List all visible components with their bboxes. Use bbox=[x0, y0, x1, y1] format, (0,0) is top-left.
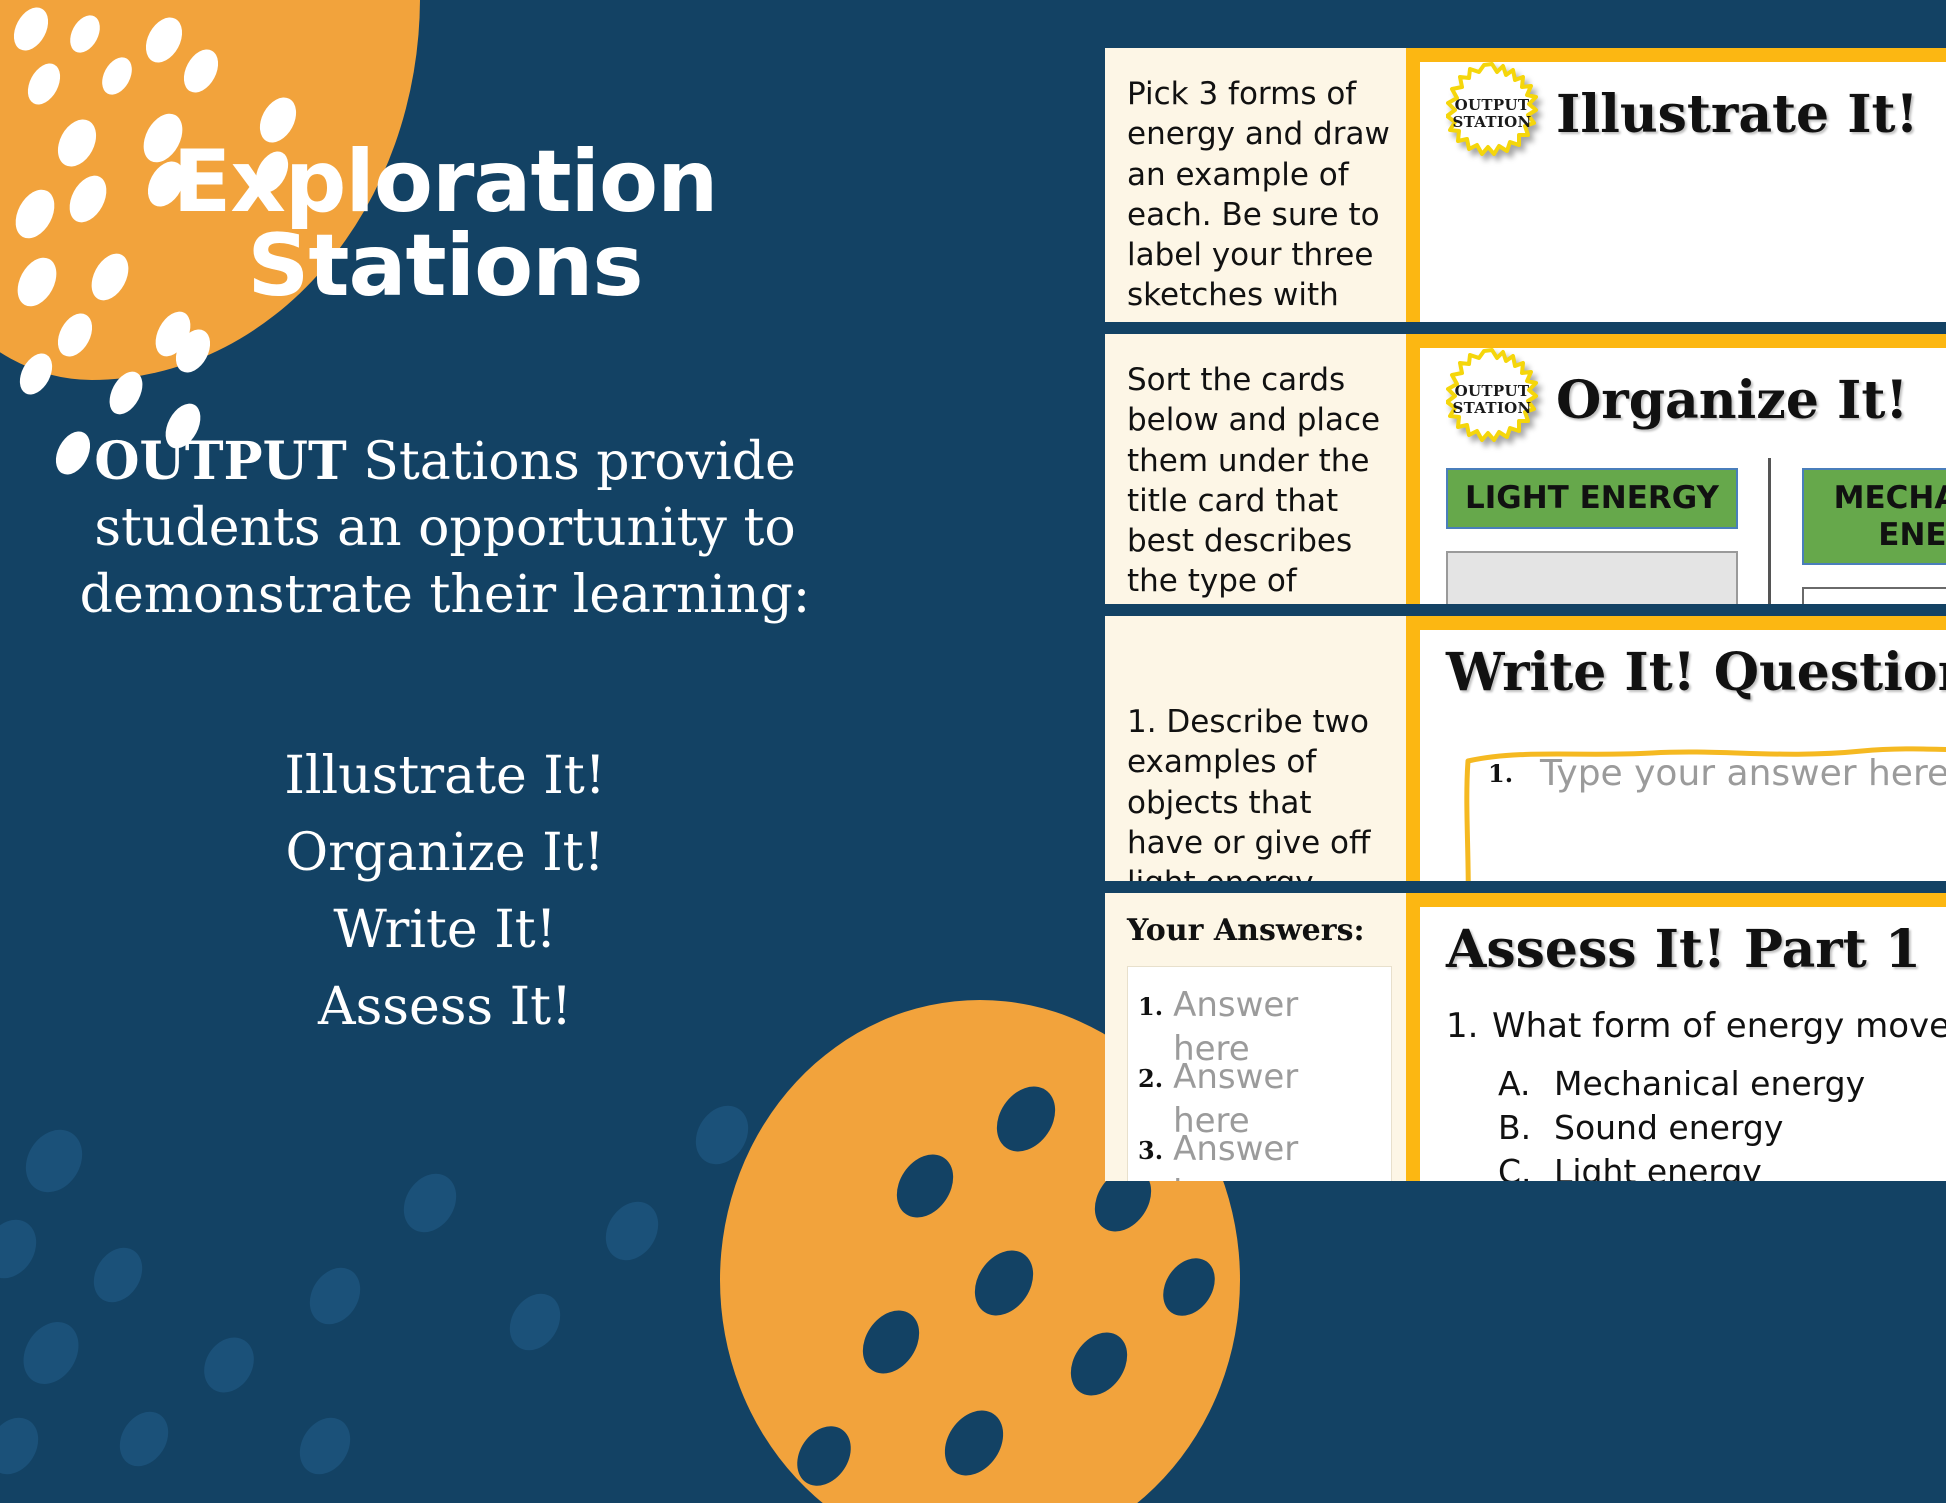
answer-row[interactable]: 1. Answer here bbox=[1138, 983, 1381, 1055]
card-top-rule bbox=[1420, 893, 1946, 907]
dot-navy bbox=[985, 1075, 1067, 1162]
card-divider bbox=[1406, 616, 1420, 881]
assess-quiz: 1.What form of energy moves A.Mechanical… bbox=[1420, 980, 1946, 1181]
quiz-question-text: What form of energy moves bbox=[1492, 1006, 1946, 1046]
intro-blurb: OUTPUT Stations provide students an oppo… bbox=[50, 429, 840, 629]
write-instructions: 1. Describe two examples of objects that… bbox=[1127, 704, 1370, 881]
organize-column-header-mechanical: MECHANICAL ENERGY bbox=[1802, 468, 1946, 565]
organize-dropzone-light[interactable] bbox=[1446, 551, 1738, 604]
output-station-badge-icon: OUTPUT STATION bbox=[1446, 348, 1538, 452]
organize-header: OUTPUT STATION Organize It! bbox=[1420, 334, 1946, 452]
organize-instructions-pane: Sort the cards below and place them unde… bbox=[1105, 334, 1406, 604]
organize-column-header-light: LIGHT ENERGY bbox=[1446, 468, 1738, 529]
station-list-item-organize: Organize It! bbox=[50, 815, 840, 892]
page-title-line2: Stations bbox=[65, 224, 825, 308]
card-top-rule bbox=[1420, 334, 1946, 348]
badge-line-1: OUTPUT bbox=[1446, 97, 1538, 114]
answer-number: 3. bbox=[1138, 1127, 1163, 1166]
option-text: Light energy bbox=[1554, 1152, 1762, 1181]
intro-blurb-bold: OUTPUT bbox=[94, 431, 346, 492]
intro-panel: Exploration Stations OUTPUT Stations pro… bbox=[0, 0, 890, 1503]
answer-row[interactable]: 2. Answer here bbox=[1138, 1055, 1381, 1127]
answer-number: 1. bbox=[1138, 983, 1163, 1022]
quiz-question-1: 1.What form of energy moves bbox=[1446, 1006, 1946, 1046]
card-top-rule bbox=[1420, 48, 1946, 62]
preview-card-illustrate-it[interactable]: Pick 3 forms of energy and draw an examp… bbox=[1105, 48, 1946, 322]
quiz-options: A.Mechanical energy B.Sound energy C.Lig… bbox=[1498, 1062, 1946, 1181]
write-slide: Write It! Questions 1. Type your answer … bbox=[1420, 616, 1946, 881]
option-letter: B. bbox=[1498, 1106, 1554, 1150]
quiz-option-a[interactable]: A.Mechanical energy bbox=[1498, 1062, 1946, 1106]
option-text: Sound energy bbox=[1554, 1108, 1783, 1147]
card-divider bbox=[1406, 334, 1420, 604]
your-answers-label: Your Answers: bbox=[1127, 911, 1392, 950]
organize-title: Organize It! bbox=[1556, 370, 1908, 431]
illustrate-slide: OUTPUT STATION Illustrate It! bbox=[1420, 48, 1946, 322]
dot-navy bbox=[963, 1239, 1045, 1326]
preview-card-assess-it[interactable]: Your Answers: 1. Answer here 2. Answer h… bbox=[1105, 893, 1946, 1181]
preview-card-write-it[interactable]: 1. Describe two examples of objects that… bbox=[1105, 616, 1946, 881]
answer-placeholder: Answer here bbox=[1173, 1127, 1381, 1181]
badge-line-2: STATION bbox=[1446, 114, 1538, 131]
illustrate-instructions-pane: Pick 3 forms of energy and draw an examp… bbox=[1105, 48, 1406, 322]
write-answer-box[interactable]: 1. Type your answer here bbox=[1462, 737, 1946, 881]
card-divider bbox=[1406, 893, 1420, 1181]
option-text: Mechanical energy bbox=[1554, 1064, 1865, 1103]
quiz-option-c[interactable]: C.Light energy bbox=[1498, 1150, 1946, 1181]
quiz-option-b[interactable]: B.Sound energy bbox=[1498, 1106, 1946, 1150]
illustrate-header: OUTPUT STATION Illustrate It! bbox=[1420, 48, 1946, 166]
badge-line-1: OUTPUT bbox=[1446, 383, 1538, 400]
output-station-badge-icon: OUTPUT STATION bbox=[1446, 62, 1538, 166]
station-list-item-illustrate: Illustrate It! bbox=[50, 738, 840, 815]
write-answer-number: 1. bbox=[1488, 759, 1513, 788]
badge-line-2: STATION bbox=[1446, 400, 1538, 417]
page-title: Exploration Stations bbox=[65, 140, 825, 309]
write-instructions-pane: 1. Describe two examples of objects that… bbox=[1105, 616, 1406, 881]
answer-row[interactable]: 3. Answer here bbox=[1138, 1127, 1381, 1181]
station-list-item-assess: Assess It! bbox=[50, 969, 840, 1046]
station-list: Illustrate It! Organize It! Write It! As… bbox=[50, 738, 840, 1046]
answer-number: 2. bbox=[1138, 1055, 1163, 1094]
dot-navy bbox=[933, 1399, 1015, 1486]
preview-card-organize-it[interactable]: Sort the cards below and place them unde… bbox=[1105, 334, 1946, 604]
card-divider bbox=[1406, 48, 1420, 322]
organize-columns: LIGHT ENERGY MECHANICAL ENERGY bbox=[1420, 452, 1946, 604]
organize-column-separator bbox=[1768, 458, 1771, 604]
option-letter: C. bbox=[1498, 1150, 1554, 1181]
card-top-rule bbox=[1420, 616, 1946, 630]
illustrate-title: Illustrate It! bbox=[1556, 84, 1918, 145]
quiz-question-number: 1. bbox=[1446, 1006, 1492, 1046]
station-list-item-write: Write It! bbox=[50, 892, 840, 969]
write-answer-placeholder: Type your answer here bbox=[1540, 753, 1946, 794]
option-letter: A. bbox=[1498, 1062, 1554, 1106]
assess-answers-pane: Your Answers: 1. Answer here 2. Answer h… bbox=[1105, 893, 1406, 1181]
illustrate-instructions: Pick 3 forms of energy and draw an examp… bbox=[1127, 76, 1390, 322]
assess-slide: Assess It! Part 1 1.What form of energy … bbox=[1420, 893, 1946, 1181]
organize-column-light[interactable]: LIGHT ENERGY bbox=[1446, 468, 1768, 604]
organize-slide: OUTPUT STATION Organize It! LIGHT ENERGY… bbox=[1420, 334, 1946, 604]
your-answers-box[interactable]: 1. Answer here 2. Answer here 3. Answer … bbox=[1127, 966, 1392, 1181]
dot-navy bbox=[885, 1144, 964, 1228]
station-previews: Pick 3 forms of energy and draw an examp… bbox=[1105, 0, 1946, 1503]
page-title-line1: Exploration bbox=[65, 140, 825, 224]
organize-dropzone-mechanical[interactable] bbox=[1802, 587, 1946, 604]
organize-column-mechanical[interactable]: MECHANICAL ENERGY bbox=[1768, 468, 1946, 604]
organize-instructions: Sort the cards below and place them unde… bbox=[1127, 362, 1380, 604]
